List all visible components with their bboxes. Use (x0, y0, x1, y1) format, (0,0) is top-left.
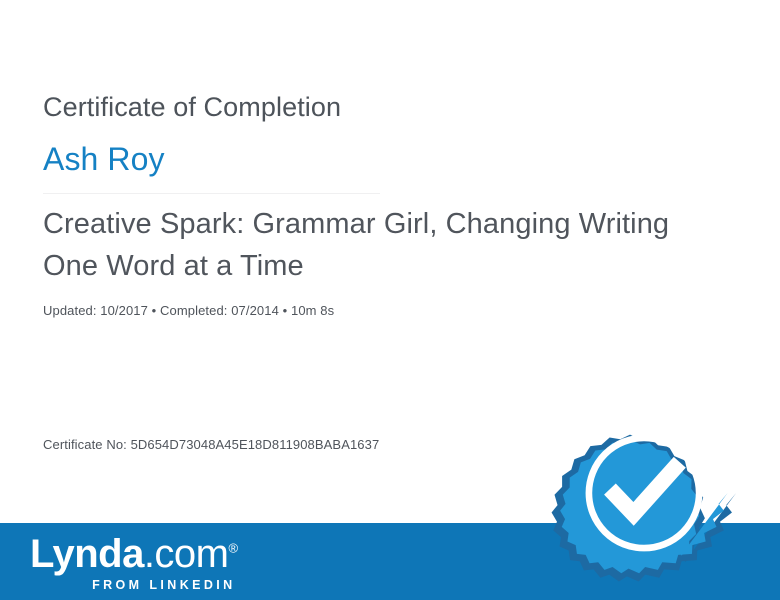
divider (43, 193, 380, 194)
registered-trademark-icon: ® (229, 541, 238, 556)
lynda-logo-text: Lynda.com® (30, 534, 238, 574)
recipient-name: Ash Roy (43, 141, 165, 178)
logo-brand-name: Lynda (30, 532, 144, 576)
checkmark-seal-icon (546, 398, 742, 588)
page-title: Certificate of Completion (43, 92, 341, 123)
course-title: Creative Spark: Grammar Girl, Changing W… (43, 203, 683, 287)
lynda-logo: Lynda.com® FROM LINKEDIN (30, 534, 238, 592)
certificate-number: Certificate No: 5D654D73048A45E18D811908… (43, 437, 379, 452)
course-metadata: Updated: 10/2017 • Completed: 07/2014 • … (43, 303, 334, 318)
logo-tagline: FROM LINKEDIN (30, 578, 238, 592)
certificate-page: Certificate of Completion Ash Roy Creati… (0, 0, 780, 600)
completion-seal (546, 398, 742, 588)
logo-domain-suffix: .com (144, 532, 229, 576)
